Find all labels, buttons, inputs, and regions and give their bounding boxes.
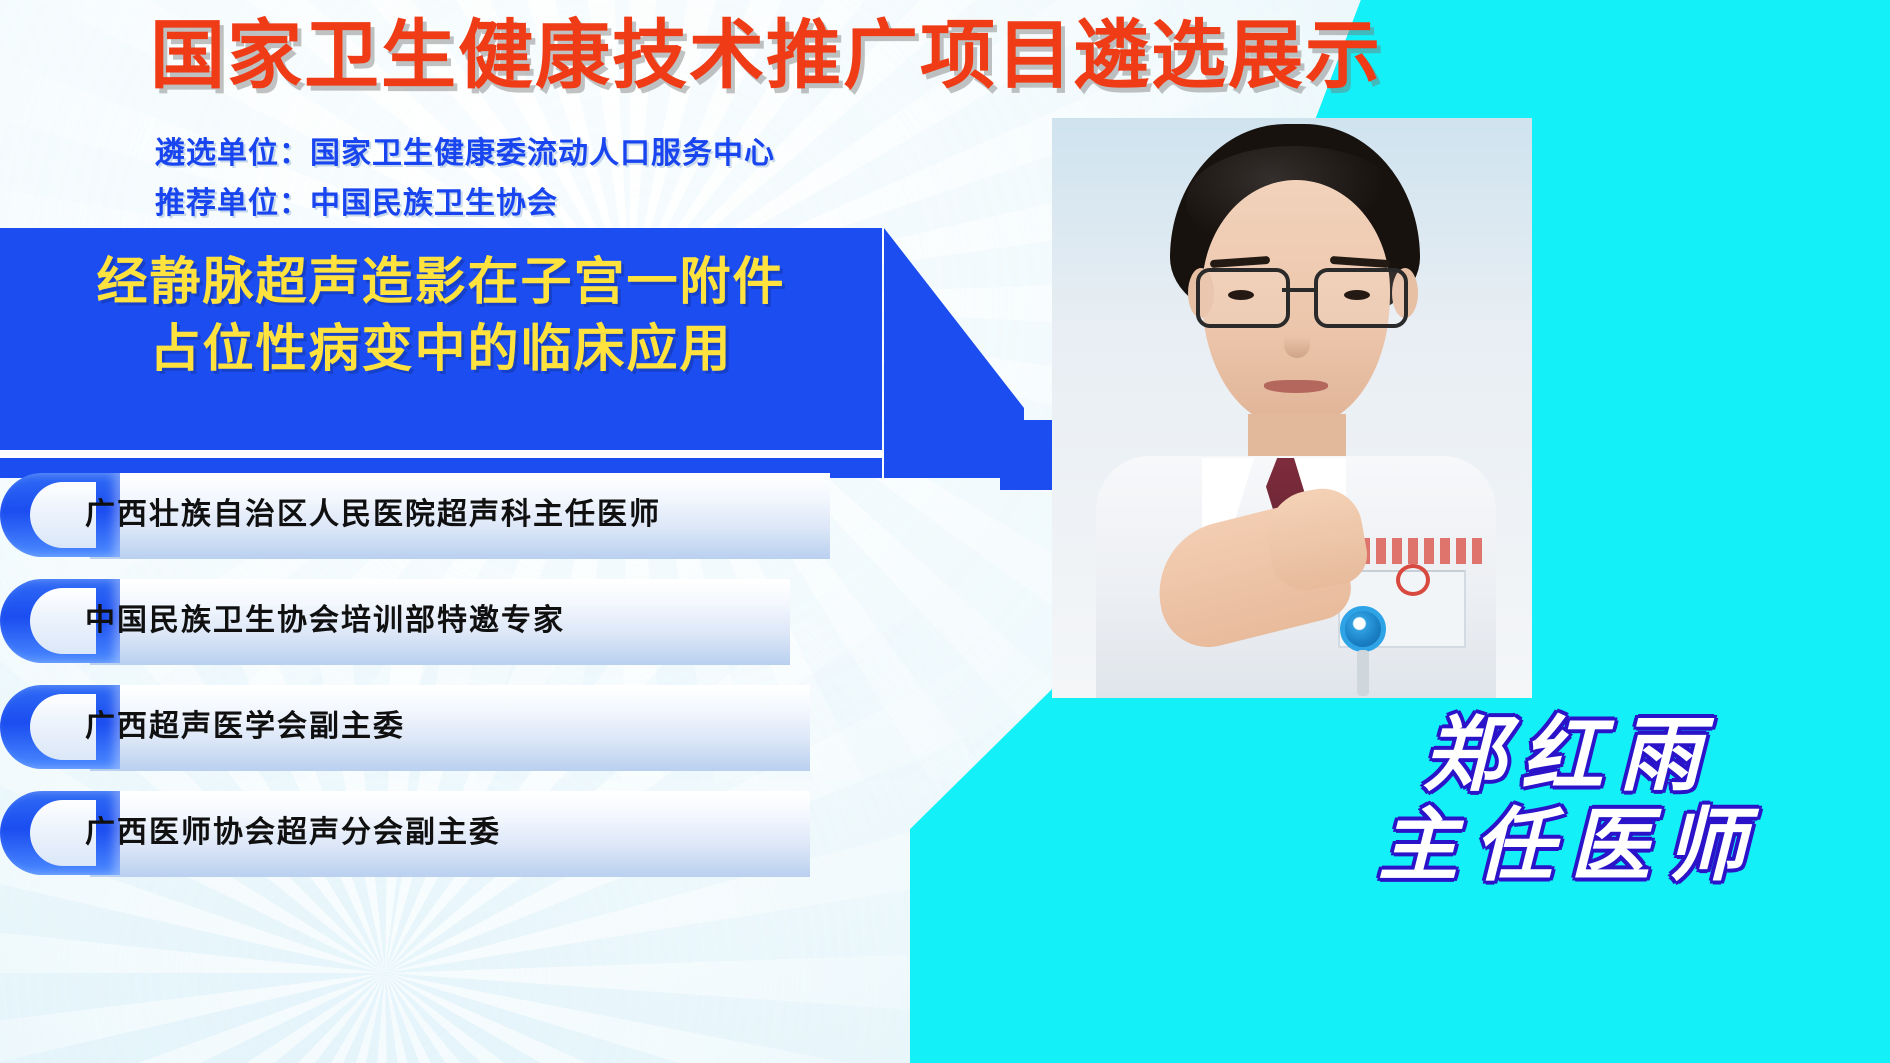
- project-title-line-2: 占位性病变中的临床应用: [0, 315, 882, 382]
- glasses-bridge: [1282, 288, 1314, 292]
- credentials-list: 广西壮族自治区人民医院超声科主任医师 中国民族卫生协会培训部特邀专家 广西超声医…: [0, 473, 830, 897]
- presenter-name-block: 郑红雨 主任医师: [1290, 712, 1850, 888]
- project-title-line-1: 经静脉超声造影在子宫一附件: [96, 253, 785, 310]
- poster-root: 国家卫生健康技术推广项目遴选展示 遴选单位：国家卫生健康委流动人口服务中心 推荐…: [0, 0, 1890, 1063]
- id-badge-reel-icon: [1340, 606, 1386, 652]
- list-item: 广西超声医学会副主委: [0, 685, 830, 769]
- credential-label: 广西壮族自治区人民医院超声科主任医师: [85, 473, 661, 557]
- subtitle-recommending-unit: 推荐单位：中国民族卫生协会: [155, 178, 558, 222]
- panel-separator: [0, 450, 882, 458]
- nose: [1284, 314, 1310, 358]
- credential-label: 中国民族卫生协会培训部特邀专家: [85, 579, 565, 663]
- presenter-name: 郑红雨: [1290, 712, 1850, 798]
- eye-left: [1228, 290, 1254, 300]
- list-item: 广西壮族自治区人民医院超声科主任医师: [0, 473, 830, 557]
- eye-right: [1344, 290, 1370, 300]
- page-title: 国家卫生健康技术推广项目遴选展示: [150, 16, 1440, 95]
- heart-icon: [1396, 564, 1430, 596]
- list-item: 广西医师协会超声分会副主委: [0, 791, 830, 875]
- credential-label: 广西超声医学会副主委: [85, 685, 405, 769]
- presenter-role: 主任医师: [1290, 802, 1850, 888]
- mouth: [1264, 380, 1328, 393]
- subtitle-selecting-unit: 遴选单位：国家卫生健康委流动人口服务中心: [155, 128, 775, 172]
- project-title: 经静脉超声造影在子宫一附件 占位性病变中的临床应用: [0, 248, 882, 383]
- credential-label: 广西医师协会超声分会副主委: [85, 791, 501, 875]
- badge-clip: [1357, 650, 1369, 696]
- list-item: 中国民族卫生协会培训部特邀专家: [0, 579, 830, 663]
- presenter-photo: [1052, 118, 1532, 698]
